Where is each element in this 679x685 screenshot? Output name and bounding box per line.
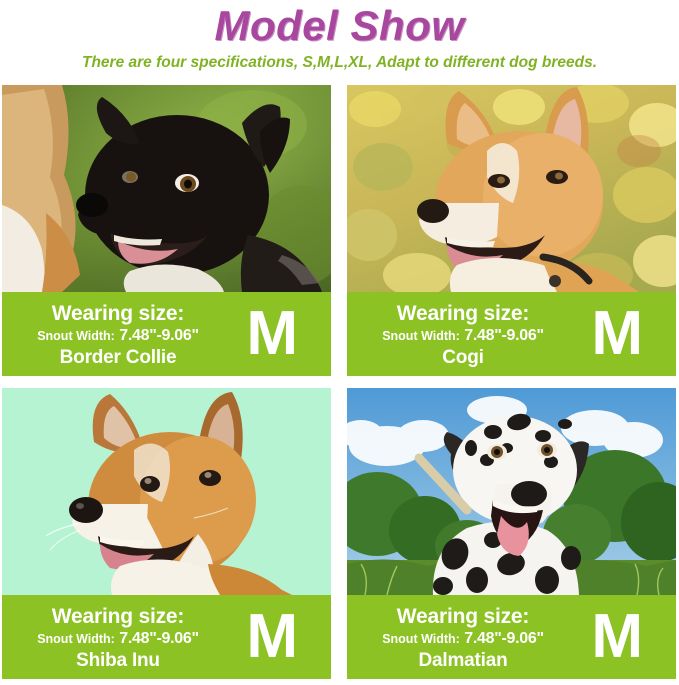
- corgi-photo: [347, 85, 676, 292]
- breed-card[interactable]: Wearing size: Snout Width: 7.48"-9.06" B…: [2, 85, 331, 376]
- snout-width-label: Snout Width:: [382, 329, 460, 343]
- breed-name: Cogi: [442, 346, 483, 369]
- size-letter: M: [591, 606, 642, 668]
- shiba-inu-photo: [2, 388, 331, 595]
- wearing-size-heading: Wearing size:: [52, 301, 184, 326]
- page-subtitle: There are four specifications, S,M,L,XL,…: [0, 52, 679, 74]
- breed-name: Shiba Inu: [76, 649, 160, 672]
- breed-name: Dalmatian: [418, 649, 507, 672]
- model-show-infographic: Model Show There are four specifications…: [0, 0, 679, 685]
- wearing-size-heading: Wearing size:: [397, 301, 529, 326]
- size-label-band: Wearing size: Snout Width: 7.48"-9.06" D…: [347, 595, 676, 679]
- size-label-band: Wearing size: Snout Width: 7.48"-9.06" B…: [2, 292, 331, 376]
- snout-width-label: Snout Width:: [382, 632, 460, 646]
- snout-width-label: Snout Width:: [37, 329, 115, 343]
- border-collie-photo: [2, 85, 331, 292]
- breed-card-grid: Wearing size: Snout Width: 7.48"-9.06" B…: [2, 85, 677, 679]
- snout-width-value: 7.48"-9.06": [464, 630, 543, 647]
- snout-width-label: Snout Width:: [37, 632, 115, 646]
- snout-width-row: Snout Width: 7.48"-9.06": [382, 629, 544, 649]
- breed-card[interactable]: Wearing size: Snout Width: 7.48"-9.06" S…: [2, 388, 331, 679]
- wearing-size-heading: Wearing size:: [397, 604, 529, 629]
- snout-width-row: Snout Width: 7.48"-9.06": [37, 629, 199, 649]
- breed-card[interactable]: Wearing size: Snout Width: 7.48"-9.06" C…: [347, 85, 676, 376]
- size-label-band: Wearing size: Snout Width: 7.48"-9.06" C…: [347, 292, 676, 376]
- header: Model Show There are four specifications…: [0, 0, 679, 74]
- page-title: Model Show: [0, 2, 679, 50]
- snout-width-row: Snout Width: 7.48"-9.06": [37, 326, 199, 346]
- size-letter: M: [591, 303, 642, 365]
- size-label-band: Wearing size: Snout Width: 7.48"-9.06" S…: [2, 595, 331, 679]
- breed-card[interactable]: Wearing size: Snout Width: 7.48"-9.06" D…: [347, 388, 676, 679]
- size-label-text: Wearing size: Snout Width: 7.48"-9.06" C…: [347, 292, 579, 376]
- snout-width-value: 7.48"-9.06": [119, 630, 198, 647]
- size-label-text: Wearing size: Snout Width: 7.48"-9.06" D…: [347, 595, 579, 679]
- breed-name: Border Collie: [60, 346, 177, 369]
- size-label-text: Wearing size: Snout Width: 7.48"-9.06" S…: [2, 595, 234, 679]
- dalmatian-photo: [347, 388, 676, 595]
- snout-width-row: Snout Width: 7.48"-9.06": [382, 326, 544, 346]
- size-label-text: Wearing size: Snout Width: 7.48"-9.06" B…: [2, 292, 234, 376]
- wearing-size-heading: Wearing size:: [52, 604, 184, 629]
- size-letter: M: [246, 303, 297, 365]
- snout-width-value: 7.48"-9.06": [119, 327, 198, 344]
- size-letter: M: [246, 606, 297, 668]
- snout-width-value: 7.48"-9.06": [464, 327, 543, 344]
